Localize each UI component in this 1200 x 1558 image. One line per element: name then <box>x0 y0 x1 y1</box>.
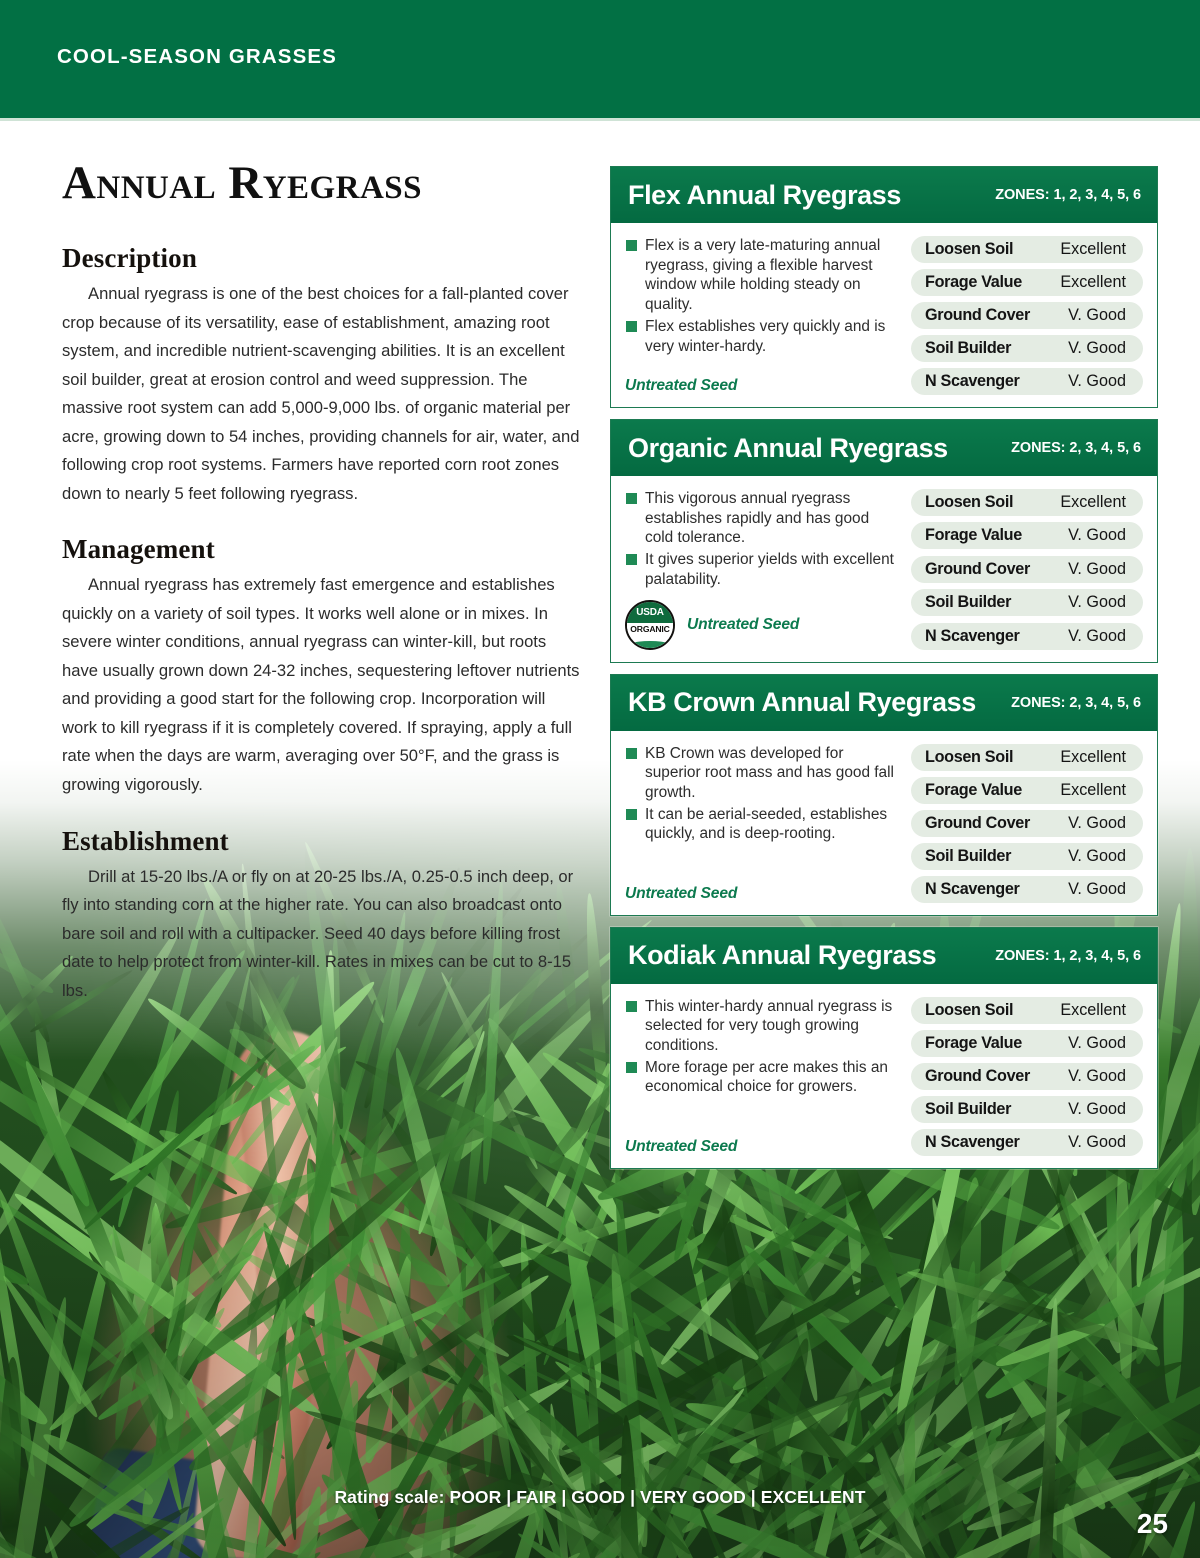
rating-row: Ground CoverV. Good <box>911 1063 1143 1090</box>
product-rating-column: Loosen SoilExcellentForage ValueExcellen… <box>901 744 1143 903</box>
product-zones: ZONES: 1, 2, 3, 4, 5, 6 <box>995 187 1141 203</box>
rating-label: Soil Builder <box>925 1100 1011 1119</box>
rating-value: V. Good <box>1068 372 1126 391</box>
bullet-square-icon <box>626 240 637 251</box>
rating-label: N Scavenger <box>925 372 1020 391</box>
rating-value: V. Good <box>1068 627 1126 646</box>
rating-value: V. Good <box>1068 1133 1126 1152</box>
product-bullet-list: KB Crown was developed for superior root… <box>625 744 901 877</box>
product-bullet-text: KB Crown was developed for superior root… <box>645 745 894 801</box>
product-name: Kodiak Annual Ryegrass <box>628 942 936 969</box>
product-name: Flex Annual Ryegrass <box>628 182 901 209</box>
rating-value: V. Good <box>1068 526 1126 545</box>
rating-value: Excellent <box>1060 240 1126 259</box>
rating-value: Excellent <box>1060 748 1126 767</box>
section-heading-establishment: Establishment <box>62 826 582 857</box>
rating-value: Excellent <box>1060 781 1126 800</box>
product-bullet: More forage per acre makes this an econo… <box>625 1058 901 1097</box>
bullet-square-icon <box>626 748 637 759</box>
rating-label: Soil Builder <box>925 593 1011 612</box>
product-card-body: This winter-hardy annual ryegrass is sel… <box>611 984 1157 1168</box>
rating-label: Forage Value <box>925 273 1022 292</box>
rating-label: Forage Value <box>925 1034 1022 1053</box>
product-card[interactable]: KB Crown Annual RyegrassZONES: 2, 3, 4, … <box>610 674 1158 916</box>
rating-value: V. Good <box>1068 1067 1126 1086</box>
rating-row: Loosen SoilExcellent <box>911 744 1143 771</box>
product-bullet-column: KB Crown was developed for superior root… <box>625 744 901 903</box>
bullet-square-icon <box>626 493 637 504</box>
rating-row: Forage ValueExcellent <box>911 269 1143 296</box>
section-description: Description Annual ryegrass is one of th… <box>62 243 582 508</box>
rating-row: Loosen SoilExcellent <box>911 997 1143 1024</box>
product-bullet-text: This winter-hardy annual ryegrass is sel… <box>645 998 892 1054</box>
product-bullet-text: Flex establishes very quickly and is ver… <box>645 318 885 355</box>
rating-label: Forage Value <box>925 781 1022 800</box>
usda-badge-line2: ORGANIC <box>630 624 669 634</box>
rating-label: Ground Cover <box>925 1067 1030 1086</box>
product-bullet: Flex is a very late-maturing annual ryeg… <box>625 236 901 315</box>
product-zones: ZONES: 2, 3, 4, 5, 6 <box>1011 440 1141 456</box>
product-bullet-text: It gives superior yields with excellent … <box>645 551 894 588</box>
page-title: Annual Ryegrass <box>62 160 582 207</box>
section-management: Management Annual ryegrass has extremely… <box>62 534 582 799</box>
section-heading-description: Description <box>62 243 582 274</box>
seed-treatment-note: Untreated Seed <box>625 1138 737 1156</box>
rating-row: N ScavengerV. Good <box>911 368 1143 395</box>
rating-row: Soil BuilderV. Good <box>911 589 1143 616</box>
product-card[interactable]: Kodiak Annual RyegrassZONES: 1, 2, 3, 4,… <box>610 927 1158 1169</box>
section-body-description: Annual ryegrass is one of the best choic… <box>62 280 582 508</box>
article-column: Annual Ryegrass Description Annual ryegr… <box>62 160 582 1005</box>
section-heading-management: Management <box>62 534 582 565</box>
seed-treatment-note: Untreated Seed <box>687 616 799 634</box>
rating-value: V. Good <box>1068 339 1126 358</box>
rating-value: V. Good <box>1068 880 1126 899</box>
product-card[interactable]: Flex Annual RyegrassZONES: 1, 2, 3, 4, 5… <box>610 166 1158 408</box>
bullet-square-icon <box>626 1001 637 1012</box>
section-banner-label: COOL-SEASON GRASSES <box>57 45 337 69</box>
product-card-body: This vigorous annual ryegrass establishe… <box>611 476 1157 662</box>
seed-treatment-note: Untreated Seed <box>625 885 737 903</box>
seed-treatment-line: Untreated Seed <box>625 1138 901 1156</box>
rating-value: Excellent <box>1060 273 1126 292</box>
rating-row: N ScavengerV. Good <box>911 1129 1143 1156</box>
rating-row: Forage ValueV. Good <box>911 522 1143 549</box>
product-bullet-column: Flex is a very late-maturing annual ryeg… <box>625 236 901 395</box>
rating-value: V. Good <box>1068 1034 1126 1053</box>
product-bullet-text: This vigorous annual ryegrass establishe… <box>645 490 869 546</box>
product-card-header: Flex Annual RyegrassZONES: 1, 2, 3, 4, 5… <box>611 167 1157 223</box>
rating-row: Forage ValueExcellent <box>911 777 1143 804</box>
product-rating-column: Loosen SoilExcellentForage ValueV. GoodG… <box>901 489 1143 650</box>
rating-label: Ground Cover <box>925 306 1030 325</box>
section-body-establishment: Drill at 15-20 lbs./A or fly on at 20-25… <box>62 863 582 1006</box>
bullet-square-icon <box>626 321 637 332</box>
rating-label: Loosen Soil <box>925 493 1013 512</box>
section-banner: COOL-SEASON GRASSES <box>0 0 1200 118</box>
rating-row: N ScavengerV. Good <box>911 876 1143 903</box>
rating-value: V. Good <box>1068 306 1126 325</box>
product-card-body: Flex is a very late-maturing annual ryeg… <box>611 223 1157 407</box>
product-bullet-list: Flex is a very late-maturing annual ryeg… <box>625 236 901 369</box>
rating-value: V. Good <box>1068 814 1126 833</box>
product-card-list: Flex Annual RyegrassZONES: 1, 2, 3, 4, 5… <box>610 166 1158 1180</box>
product-bullet-column: This vigorous annual ryegrass establishe… <box>625 489 901 650</box>
product-bullet-text: More forage per acre makes this an econo… <box>645 1059 888 1096</box>
product-zones: ZONES: 1, 2, 3, 4, 5, 6 <box>995 948 1141 964</box>
seed-treatment-note: Untreated Seed <box>625 377 737 395</box>
usda-badge-line1: USDA <box>636 607 664 618</box>
product-card-header: KB Crown Annual RyegrassZONES: 2, 3, 4, … <box>611 675 1157 731</box>
rating-value: V. Good <box>1068 593 1126 612</box>
product-bullet-text: Flex is a very late-maturing annual ryeg… <box>645 237 880 313</box>
product-bullet-column: This winter-hardy annual ryegrass is sel… <box>625 997 901 1156</box>
product-bullet: This vigorous annual ryegrass establishe… <box>625 489 901 548</box>
product-bullet: It gives superior yields with excellent … <box>625 550 901 589</box>
product-bullet-text: It can be aerial-seeded, establishes qui… <box>645 806 887 843</box>
rating-label: Soil Builder <box>925 339 1011 358</box>
rating-row: Soil BuilderV. Good <box>911 843 1143 870</box>
rating-label: Ground Cover <box>925 560 1030 579</box>
rating-value: Excellent <box>1060 493 1126 512</box>
section-body-management: Annual ryegrass has extremely fast emerg… <box>62 571 582 799</box>
product-card-header: Organic Annual RyegrassZONES: 2, 3, 4, 5… <box>611 420 1157 476</box>
rating-row: Ground CoverV. Good <box>911 556 1143 583</box>
product-bullet-list: This vigorous annual ryegrass establishe… <box>625 489 901 592</box>
product-card-body: KB Crown was developed for superior root… <box>611 731 1157 915</box>
rating-row: Loosen SoilExcellent <box>911 489 1143 516</box>
product-name: KB Crown Annual Ryegrass <box>628 689 976 716</box>
product-rating-column: Loosen SoilExcellentForage ValueExcellen… <box>901 236 1143 395</box>
rating-value: V. Good <box>1068 847 1126 866</box>
product-bullet: It can be aerial-seeded, establishes qui… <box>625 805 901 844</box>
rating-value: V. Good <box>1068 1100 1126 1119</box>
rating-label: N Scavenger <box>925 627 1020 646</box>
product-card[interactable]: Organic Annual RyegrassZONES: 2, 3, 4, 5… <box>610 419 1158 663</box>
rating-row: N ScavengerV. Good <box>911 623 1143 650</box>
rating-value: V. Good <box>1068 560 1126 579</box>
rating-label: Loosen Soil <box>925 748 1013 767</box>
product-bullet: Flex establishes very quickly and is ver… <box>625 317 901 356</box>
seed-treatment-line: Untreated Seed <box>625 377 901 395</box>
rating-row: Forage ValueV. Good <box>911 1030 1143 1057</box>
rating-label: Loosen Soil <box>925 240 1013 259</box>
rating-label: N Scavenger <box>925 1133 1020 1152</box>
rating-label: Loosen Soil <box>925 1001 1013 1020</box>
seed-treatment-line: Untreated Seed <box>625 885 901 903</box>
rating-row: Ground CoverV. Good <box>911 810 1143 837</box>
rating-value: Excellent <box>1060 1001 1126 1020</box>
rating-label: Ground Cover <box>925 814 1030 833</box>
bullet-square-icon <box>626 809 637 820</box>
product-rating-column: Loosen SoilExcellentForage ValueV. GoodG… <box>901 997 1143 1156</box>
rating-label: N Scavenger <box>925 880 1020 899</box>
rating-label: Forage Value <box>925 526 1022 545</box>
rating-row: Ground CoverV. Good <box>911 302 1143 329</box>
section-establishment: Establishment Drill at 15-20 lbs./A or f… <box>62 826 582 1006</box>
product-card-header: Kodiak Annual RyegrassZONES: 1, 2, 3, 4,… <box>611 928 1157 984</box>
product-zones: ZONES: 2, 3, 4, 5, 6 <box>1011 695 1141 711</box>
bullet-square-icon <box>626 554 637 565</box>
bullet-square-icon <box>626 1062 637 1073</box>
rating-row: Soil BuilderV. Good <box>911 1096 1143 1123</box>
seed-treatment-line: USDAORGANICUntreated Seed <box>625 600 901 650</box>
banner-hairline <box>0 118 1200 121</box>
product-name: Organic Annual Ryegrass <box>628 435 948 462</box>
page-number: 25 <box>1137 1508 1168 1540</box>
product-bullet: This winter-hardy annual ryegrass is sel… <box>625 997 901 1056</box>
product-bullet: KB Crown was developed for superior root… <box>625 744 901 803</box>
product-bullet-list: This winter-hardy annual ryegrass is sel… <box>625 997 901 1130</box>
usda-organic-icon: USDAORGANIC <box>625 600 675 650</box>
rating-scale-legend: Rating scale: POOR | FAIR | GOOD | VERY … <box>0 1487 1200 1508</box>
rating-row: Loosen SoilExcellent <box>911 236 1143 263</box>
rating-label: Soil Builder <box>925 847 1011 866</box>
rating-row: Soil BuilderV. Good <box>911 335 1143 362</box>
